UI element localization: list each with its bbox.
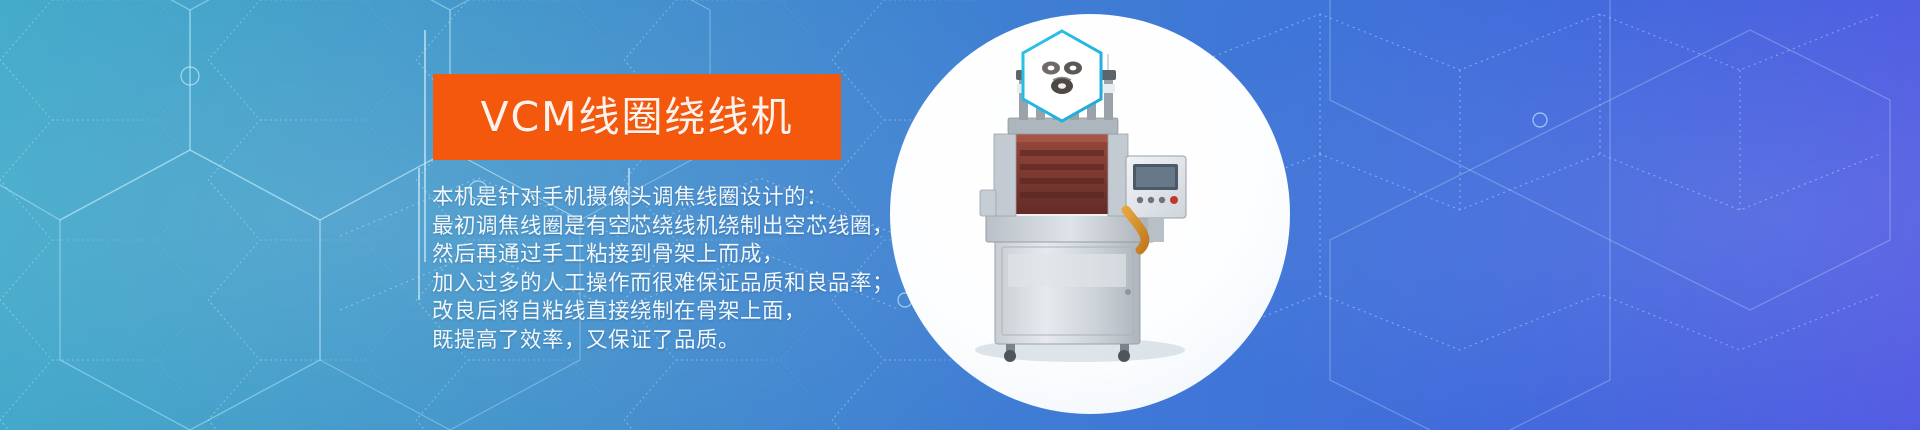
- product-banner: VCM线圈绕线机 本机是针对手机摄像头调焦线圈设计的： 最初调焦线圈是有空芯绕线…: [0, 0, 1920, 430]
- page-title: VCM线圈绕线机: [480, 97, 793, 138]
- coil-hexagon-badge: [1018, 28, 1106, 124]
- title-badge: VCM线圈绕线机: [433, 74, 841, 160]
